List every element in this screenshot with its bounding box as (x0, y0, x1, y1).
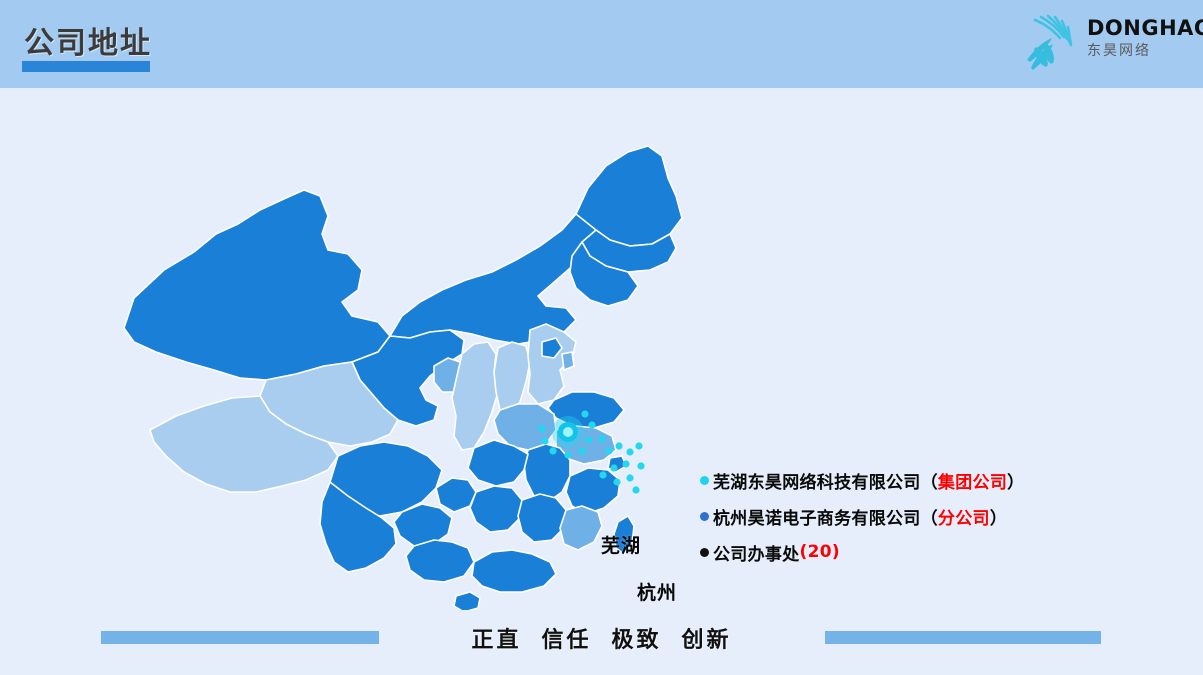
legend-item-offices[interactable]: 公司办事处 (20) (700, 534, 1170, 570)
legend-item-branch-company[interactable]: 杭州昊诺电子商务有限公司 （ 分公司 ） (700, 498, 1170, 534)
legend-bullet-icon (700, 548, 709, 557)
legend-paren-open: （ (921, 504, 938, 529)
legend-bullet-icon (700, 476, 709, 485)
legend-paren-open: （ (921, 468, 938, 493)
slogan-word-3: 极致 (612, 628, 662, 653)
header-band: 公司地址 (0, 0, 1203, 88)
slide-root: 公司地址 (0, 0, 1203, 675)
china-map[interactable]: 芜湖 杭州 (90, 130, 730, 610)
province-tianjin (562, 352, 574, 370)
legend-bullet-icon (700, 512, 709, 521)
legend-paren-close: ） (1007, 468, 1024, 493)
province-xinjiang (124, 190, 390, 380)
logo-english: DONGHAO (1087, 18, 1191, 39)
logo[interactable]: DONGHAO 东昊网络 (1019, 8, 1189, 80)
legend-label: 芜湖东昊网络科技有限公司 (713, 468, 921, 493)
province-shaanxi (452, 342, 498, 450)
province-jiangxi (518, 494, 566, 542)
legend-paren-close: ） (990, 504, 1007, 529)
province-anhui (524, 444, 570, 502)
map-label-wuhu: 芜湖 (601, 531, 641, 558)
legend: 芜湖东昊网络科技有限公司 （ 集团公司 ） 杭州昊诺电子商务有限公司 （ 分公司… (700, 462, 1170, 570)
province-guangdong (472, 550, 556, 592)
logo-text: DONGHAO 东昊网络 (1087, 18, 1191, 58)
slogan-word-1: 正直 (471, 628, 521, 653)
legend-tag: 分公司 (938, 504, 990, 529)
title-underline (22, 61, 150, 72)
province-guangxi (406, 540, 474, 582)
logo-chinese: 东昊网络 (1087, 44, 1191, 58)
province-zhejiang (566, 468, 620, 514)
legend-tag: 集团公司 (938, 468, 1007, 493)
slogan-word-2: 信任 (541, 628, 591, 653)
legend-label: 杭州昊诺电子商务有限公司 (713, 504, 921, 529)
legend-label: 公司办事处 (713, 540, 800, 565)
legend-tag: (20) (800, 542, 840, 562)
legend-item-group-company[interactable]: 芜湖东昊网络科技有限公司 （ 集团公司 ） (700, 462, 1170, 498)
logo-fan-icon (1019, 10, 1089, 74)
province-fujian (560, 506, 602, 550)
footer-slogan: 正直信任极致创新 (0, 622, 1203, 654)
map-label-hangzhou: 杭州 (637, 578, 677, 605)
page-title: 公司地址 (24, 18, 152, 62)
province-hainan (454, 592, 480, 610)
province-hunan (470, 486, 522, 532)
slogan-word-4: 创新 (682, 628, 732, 653)
